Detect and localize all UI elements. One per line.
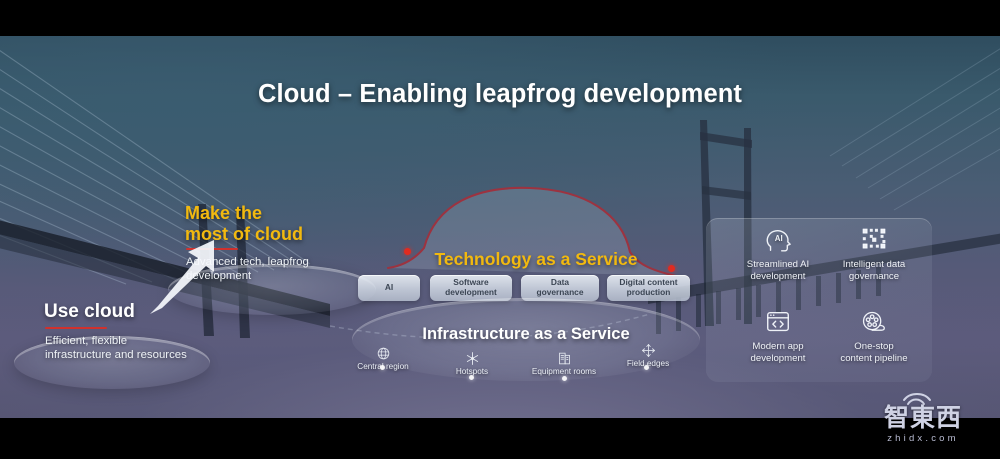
feature-label: One-stop content pipeline <box>840 341 907 364</box>
cloud-outline-shape <box>380 186 690 286</box>
watermark: 智東西 zhidx.com <box>862 392 984 448</box>
infra-node-dot-equipment <box>562 376 567 381</box>
snowflake-icon <box>465 351 480 366</box>
infra-node-field-edges[interactable]: Field edges <box>608 343 688 368</box>
feature-intelligent-data-governance[interactable]: Intelligent data governance <box>826 226 922 282</box>
infra-node-dot-central <box>380 365 385 370</box>
infra-node-equipment-rooms[interactable]: Equipment rooms <box>518 351 610 376</box>
feature-label: Modern app development <box>751 341 806 364</box>
watermark-latin: zhidx.com <box>862 433 984 444</box>
upward-arrow-icon <box>148 234 222 318</box>
infra-node-hotspots[interactable]: Hotspots <box>432 351 512 376</box>
feature-streamlined-ai-development[interactable]: AI Streamlined AI development <box>730 226 826 282</box>
letterbox-bar-top <box>0 0 1000 36</box>
code-window-icon <box>763 308 793 336</box>
slide-screenshot: Cloud – Enabling leapfrog development Ma… <box>0 0 1000 459</box>
letterbox-bar-bottom <box>0 418 1000 459</box>
pill-digital-content-production[interactable]: Digital content production <box>607 275 690 301</box>
feature-label: Streamlined AI development <box>747 259 809 282</box>
feature-modern-app-development[interactable]: Modern app development <box>730 308 826 364</box>
ai-head-icon: AI <box>763 226 793 254</box>
infra-node-label: Equipment rooms <box>532 367 596 376</box>
feature-one-stop-content-pipeline[interactable]: One-stop content pipeline <box>826 308 922 364</box>
feature-label: Intelligent data governance <box>843 259 905 282</box>
watermark-cjk: 智東西 <box>862 404 984 432</box>
move-arrows-icon <box>641 343 656 358</box>
infrastructure-as-a-service-label: Infrastructure as a Service <box>360 325 692 344</box>
technology-as-a-service-label: Technology as a Service <box>386 249 686 270</box>
use-cloud-title: Use cloud <box>44 301 135 323</box>
film-reel-icon <box>859 308 889 336</box>
pill-software-development[interactable]: Software development <box>430 275 512 301</box>
pill-ai[interactable]: AI <box>358 275 420 301</box>
page-title: Cloud – Enabling leapfrog development <box>0 80 1000 109</box>
globe-icon <box>376 346 391 361</box>
infra-node-dot-hotspots <box>469 375 474 380</box>
use-cloud-divider <box>45 327 107 329</box>
infra-node-dot-field-edges <box>644 365 649 370</box>
use-cloud-subtitle: Efficient, flexible infrastructure and r… <box>45 334 260 363</box>
data-grid-icon <box>859 226 889 254</box>
server-rack-icon <box>557 351 572 366</box>
video-frame: Cloud – Enabling leapfrog development Ma… <box>0 36 1000 418</box>
svg-text:AI: AI <box>775 234 783 243</box>
